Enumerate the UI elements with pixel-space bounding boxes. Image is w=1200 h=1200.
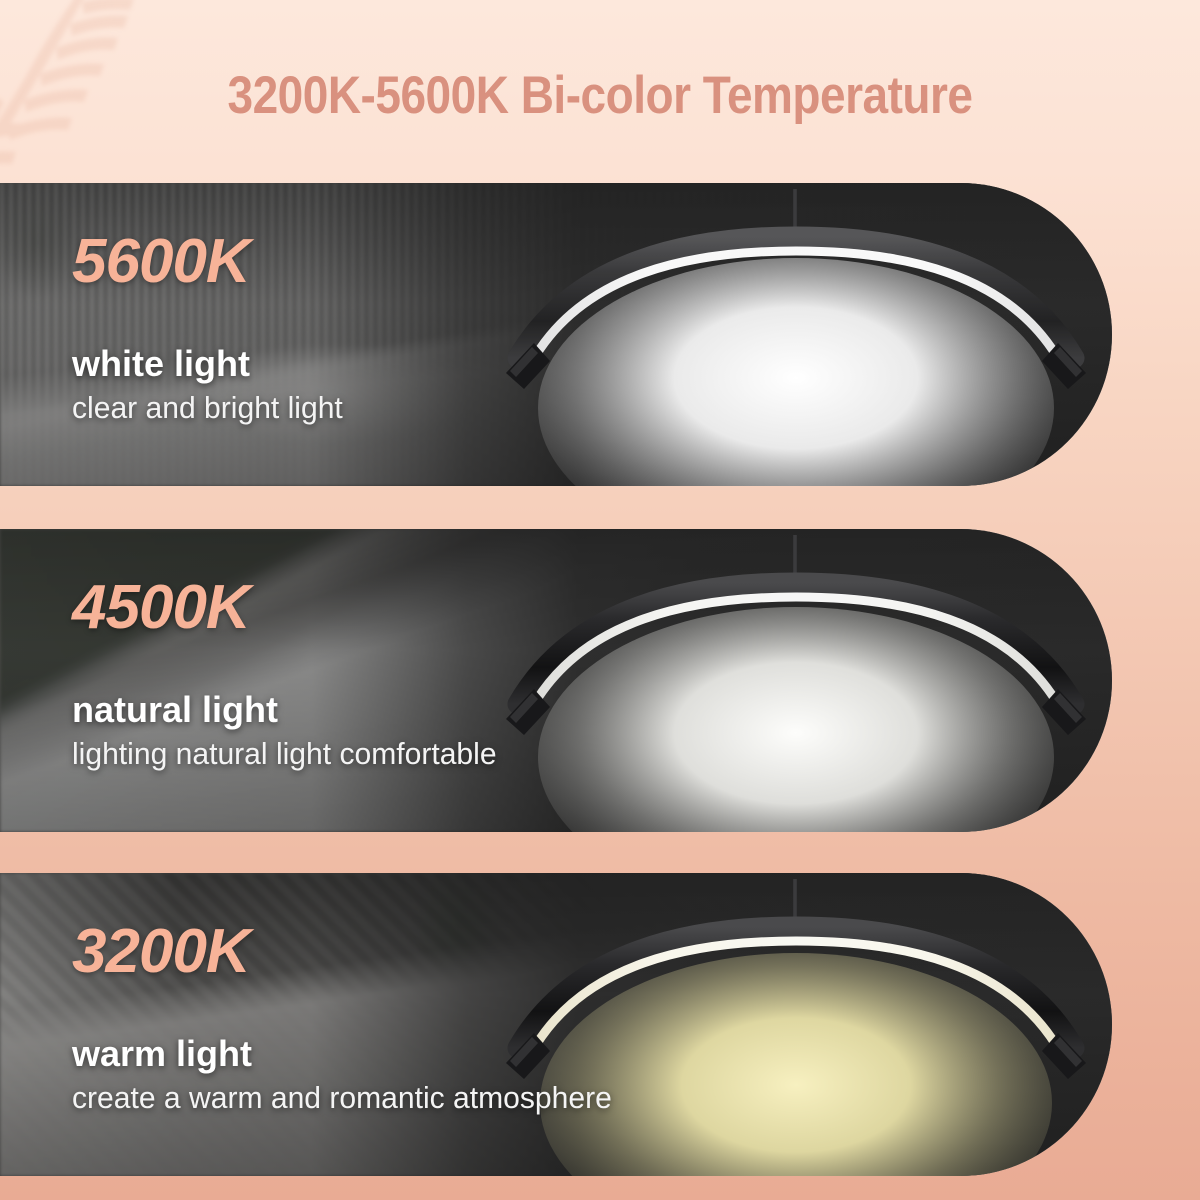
panel-1-text-block: 5600K white light clear and bright light (72, 231, 712, 425)
panel-3-text-block: 3200K warm light create a warm and roman… (72, 921, 712, 1115)
light-name-label: natural light (72, 691, 712, 729)
light-description: lighting natural light comfortable (72, 737, 693, 771)
kelvin-label: 4500K (72, 577, 712, 639)
temperature-panel-5600k: 5600K white light clear and bright light (0, 183, 1112, 486)
light-name-label: white light (72, 345, 712, 383)
temperature-panel-4500k: 4500K natural light lighting natural lig… (0, 529, 1112, 832)
product-feature-page: 3200K-5600K Bi-color Temperature (0, 0, 1200, 1200)
kelvin-label: 3200K (72, 921, 712, 983)
panel-2-text-block: 4500K natural light lighting natural lig… (72, 577, 712, 771)
light-description: create a warm and romantic atmosphere (72, 1081, 693, 1115)
page-title: 3200K-5600K Bi-color Temperature (0, 64, 1200, 126)
light-description: clear and bright light (72, 391, 693, 425)
temperature-panel-3200k: 3200K warm light create a warm and roman… (0, 873, 1112, 1176)
kelvin-label: 5600K (72, 231, 712, 293)
light-name-label: warm light (72, 1035, 712, 1073)
